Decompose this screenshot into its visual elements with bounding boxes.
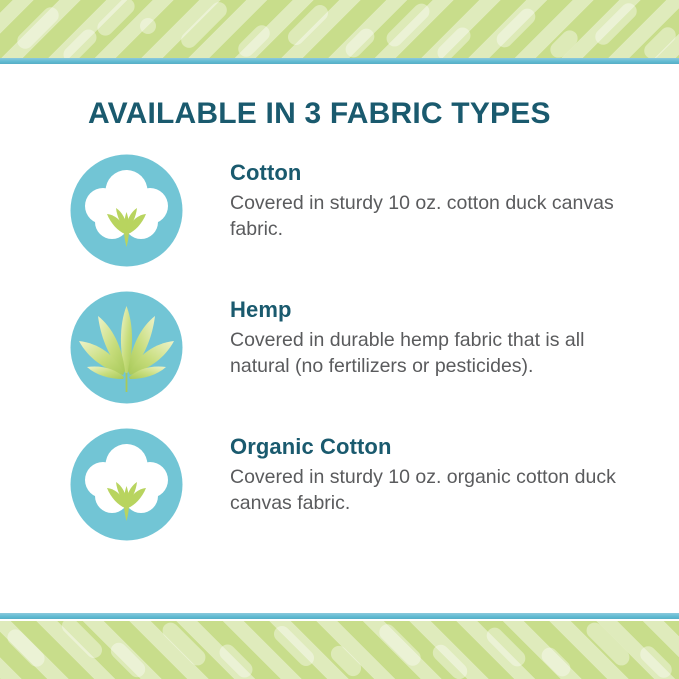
top-banner-capsule-shapes: [0, 0, 679, 58]
fabric-description: Covered in sturdy 10 oz. organic cotton …: [230, 465, 630, 516]
list-item: Hemp Covered in durable hemp fabric that…: [0, 291, 679, 404]
fabric-types-infographic: AVAILABLE IN 3 FABRIC TYPES: [0, 0, 679, 679]
fabric-description: Covered in sturdy 10 oz. cotton duck can…: [230, 191, 630, 242]
list-item: Cotton Covered in sturdy 10 oz. cotton d…: [0, 154, 679, 267]
bottom-decorative-banner: [0, 613, 679, 679]
cotton-boll-icon: [70, 428, 183, 541]
fabric-text-block: Cotton Covered in sturdy 10 oz. cotton d…: [230, 154, 679, 243]
fabric-description: Covered in durable hemp fabric that is a…: [230, 328, 630, 379]
bottom-banner-green-field: [0, 621, 679, 679]
bottom-banner-capsule-shapes: [0, 621, 679, 679]
fabric-name: Cotton: [230, 161, 679, 185]
hemp-leaf-icon: [70, 291, 183, 404]
fabric-name: Organic Cotton: [230, 435, 679, 459]
fabric-text-block: Organic Cotton Covered in sturdy 10 oz. …: [230, 428, 679, 517]
fabric-types-list: Cotton Covered in sturdy 10 oz. cotton d…: [0, 154, 679, 565]
top-decorative-banner: [0, 0, 679, 64]
bottom-banner-blue-rule: [0, 613, 679, 619]
top-banner-green-field: [0, 0, 679, 58]
page-title: AVAILABLE IN 3 FABRIC TYPES: [88, 97, 551, 131]
cotton-boll-icon: [70, 154, 183, 267]
fabric-text-block: Hemp Covered in durable hemp fabric that…: [230, 291, 679, 380]
list-item: Organic Cotton Covered in sturdy 10 oz. …: [0, 428, 679, 541]
fabric-name: Hemp: [230, 298, 679, 322]
main-content: AVAILABLE IN 3 FABRIC TYPES: [0, 64, 679, 613]
